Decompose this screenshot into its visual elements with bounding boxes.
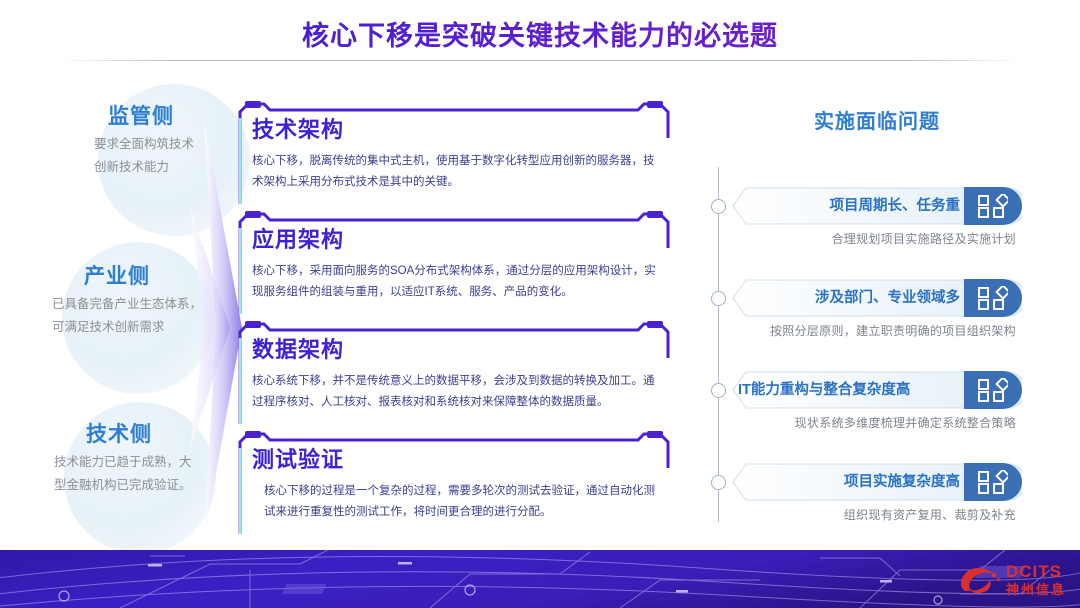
grid-diamond-icon bbox=[964, 187, 1022, 225]
timeline-axis bbox=[718, 167, 719, 522]
card-body: 核心下移，采用面向服务的SOA分布式架构体系，通过分层的应用架构设计，实现服务组… bbox=[252, 261, 658, 304]
driver-title: 监管侧 bbox=[108, 100, 261, 130]
page-title: 核心下移是突破关键技术能力的必选题 bbox=[0, 14, 1080, 53]
title-divider bbox=[60, 60, 1020, 61]
issue-item[interactable]: 项目周期长、任务重 合理规划项目实施路径及实施计划 bbox=[732, 187, 1022, 247]
issue-pill[interactable]: 涉及部门、专业领域多 bbox=[732, 279, 1022, 317]
issue-sub: 合理规划项目实施路径及实施计划 bbox=[732, 230, 1022, 247]
timeline-dot bbox=[711, 291, 726, 306]
issue-item[interactable]: 涉及部门、专业领域多 按照分层原则，建立职责明确的项目组织架构 bbox=[732, 279, 1022, 339]
card-body: 核心下移的过程是一个复杂的过程，需要多轮次的测试去验证，通过自动化测试来进行重复… bbox=[252, 481, 658, 524]
issue-sub: 按照分层原则，建立职责明确的项目组织架构 bbox=[732, 322, 1022, 339]
issue-sub: 现状系统多维度梳理并确定系统整合策略 bbox=[732, 414, 1022, 431]
card-test-validation[interactable]: 测试验证 核心下移的过程是一个复杂的过程，需要多轮次的测试去验证，通过自动化测试… bbox=[238, 428, 670, 538]
card-body: 核心系统下移，并不是传统意义上的数据平移，会涉及到数据的转换及加工。通过程序核对… bbox=[252, 371, 658, 414]
driver-group-industry: 产业侧 已具备完备产业生态体系， 可满足技术创新需求 bbox=[22, 260, 237, 339]
issue-pill[interactable]: IT能力重构与整合复杂度高 bbox=[732, 371, 1022, 409]
issue-item[interactable]: IT能力重构与整合复杂度高 现状系统多维度梳理并确定系统整合策略 bbox=[732, 371, 1022, 431]
issue-item[interactable]: 项目实施复杂度高 组织现有资产复用、裁剪及补充 bbox=[732, 463, 1022, 523]
driver-desc: 技术能力已趋于成熟，大 型金融机构已完成验证。 bbox=[54, 451, 239, 497]
dcits-swirl-icon bbox=[956, 562, 1002, 596]
logo-en-text: DCITS bbox=[1006, 563, 1066, 580]
issue-label: 涉及部门、专业领域多 bbox=[815, 279, 960, 317]
grid-diamond-icon bbox=[964, 371, 1022, 409]
card-title: 应用架构 bbox=[252, 222, 658, 254]
driver-group-technology: 技术侧 技术能力已趋于成熟，大 型金融机构已完成验证。 bbox=[24, 418, 239, 497]
issue-pill[interactable]: 项目周期长、任务重 bbox=[732, 187, 1022, 225]
driver-group-regulation: 监管侧 要求全面构筑技术 创新技术能力 bbox=[46, 100, 261, 179]
issue-label: 项目实施复杂度高 bbox=[844, 463, 960, 501]
issue-label: 项目周期长、任务重 bbox=[830, 187, 961, 225]
driver-title: 产业侧 bbox=[84, 260, 237, 290]
card-title: 技术架构 bbox=[252, 112, 658, 144]
brand-logo: DCITS 神州信息 bbox=[956, 562, 1066, 596]
driver-title: 技术侧 bbox=[86, 418, 239, 448]
timeline-dot bbox=[711, 383, 726, 398]
timeline-dot bbox=[711, 475, 726, 490]
card-body: 核心下移，脱离传统的集中式主机，使用基于数字化转型应用创新的服务器，技术架构上采… bbox=[252, 151, 658, 194]
implementation-issues-panel: 实施面临问题 项目周期长、任务重 合理规划项目实施路径及实施计划 bbox=[700, 105, 1040, 535]
driver-desc: 已具备完备产业生态体系， 可满足技术创新需求 bbox=[52, 293, 237, 339]
card-title: 测试验证 bbox=[252, 442, 658, 474]
driver-desc: 要求全面构筑技术 创新技术能力 bbox=[94, 133, 261, 179]
card-data-architecture[interactable]: 数据架构 核心系统下移，并不是传统意义上的数据平移，会涉及到数据的转换及加工。通… bbox=[238, 318, 670, 428]
card-title: 数据架构 bbox=[252, 332, 658, 364]
panel-heading: 实施面临问题 bbox=[714, 105, 1040, 134]
left-drivers-column: 监管侧 要求全面构筑技术 创新技术能力 产业侧 已具备完备产业生态体系， 可满足… bbox=[0, 100, 215, 540]
issue-label: IT能力重构与整合复杂度高 bbox=[732, 371, 960, 409]
card-tech-architecture[interactable]: 技术架构 核心下移，脱离传统的集中式主机，使用基于数字化转型应用创新的服务器，技… bbox=[238, 98, 670, 208]
grid-diamond-icon bbox=[964, 463, 1022, 501]
architecture-cards: 技术架构 核心下移，脱离传统的集中式主机，使用基于数字化转型应用创新的服务器，技… bbox=[238, 98, 670, 538]
logo-cn-text: 神州信息 bbox=[1006, 583, 1066, 596]
issue-sub: 组织现有资产复用、裁剪及补充 bbox=[732, 506, 1022, 523]
footer-band: DCITS 神州信息 bbox=[0, 550, 1080, 608]
issue-pill[interactable]: 项目实施复杂度高 bbox=[732, 463, 1022, 501]
footer-circuit-graphic bbox=[0, 550, 1080, 608]
timeline-dot bbox=[711, 199, 726, 214]
grid-diamond-icon bbox=[964, 279, 1022, 317]
card-application-architecture[interactable]: 应用架构 核心下移，采用面向服务的SOA分布式架构体系，通过分层的应用架构设计，… bbox=[238, 208, 670, 318]
